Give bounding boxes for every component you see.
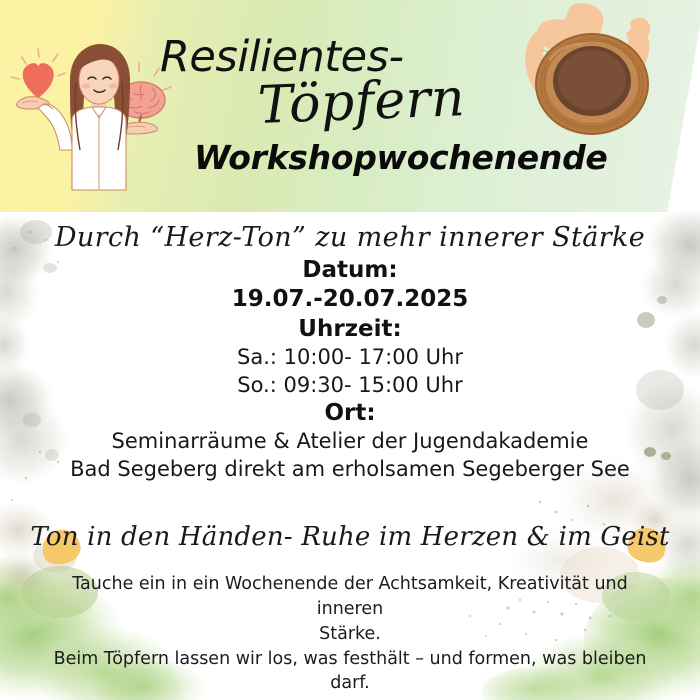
description-line-3: Beim Töpfern lassen wir los, was festhäl… xyxy=(40,647,660,697)
description-line-2: Stärke. xyxy=(40,622,660,647)
event-info-stack: Datum: 19.07.-20.07.2025 Uhrzeit: Sa.: 1… xyxy=(0,256,700,483)
ort-line-1: Seminarräume & Atelier der Jugendakademi… xyxy=(0,428,700,455)
heart-icon xyxy=(23,63,54,98)
description-line-1: Tauche ein in ein Wochenende der Achtsam… xyxy=(40,572,660,622)
poster-canvas: Resilientes- Töpfern Workshopwochenende … xyxy=(0,0,700,700)
body-content: Durch “Herz-Ton” zu mehr innerer Stärke … xyxy=(0,212,700,700)
tagline-bottom: Ton in den Händen- Ruhe im Herzen & im G… xyxy=(0,522,700,552)
tagline-top: Durch “Herz-Ton” zu mehr innerer Stärke xyxy=(0,222,700,253)
uhrzeit-saturday: Sa.: 10:00- 17:00 Uhr xyxy=(0,344,700,371)
ort-label: Ort: xyxy=(0,399,700,428)
title-block: Resilientes- Töpfern Workshopwochenende xyxy=(150,18,570,198)
uhrzeit-sunday: So.: 09:30- 15:00 Uhr xyxy=(0,372,700,399)
title-line-toepfern: Töpfern xyxy=(257,68,466,136)
header-banner: Resilientes- Töpfern Workshopwochenende xyxy=(0,0,700,212)
datum-value: 19.07.-20.07.2025 xyxy=(0,285,700,314)
blush-right xyxy=(109,83,117,88)
description-block: Tauche ein in ein Wochenende der Achtsam… xyxy=(40,572,660,696)
left-arm xyxy=(38,104,72,150)
title-line-workshopwochenende: Workshopwochenende xyxy=(194,138,607,177)
blush-left xyxy=(82,83,90,88)
datum-label: Datum: xyxy=(0,256,700,285)
ort-line-2: Bad Segeberg direkt am erholsamen Segebe… xyxy=(0,456,700,483)
uhrzeit-label: Uhrzeit: xyxy=(0,315,700,344)
tagline-bottom-wrapper: Ton in den Händen- Ruhe im Herzen & im G… xyxy=(0,522,700,566)
